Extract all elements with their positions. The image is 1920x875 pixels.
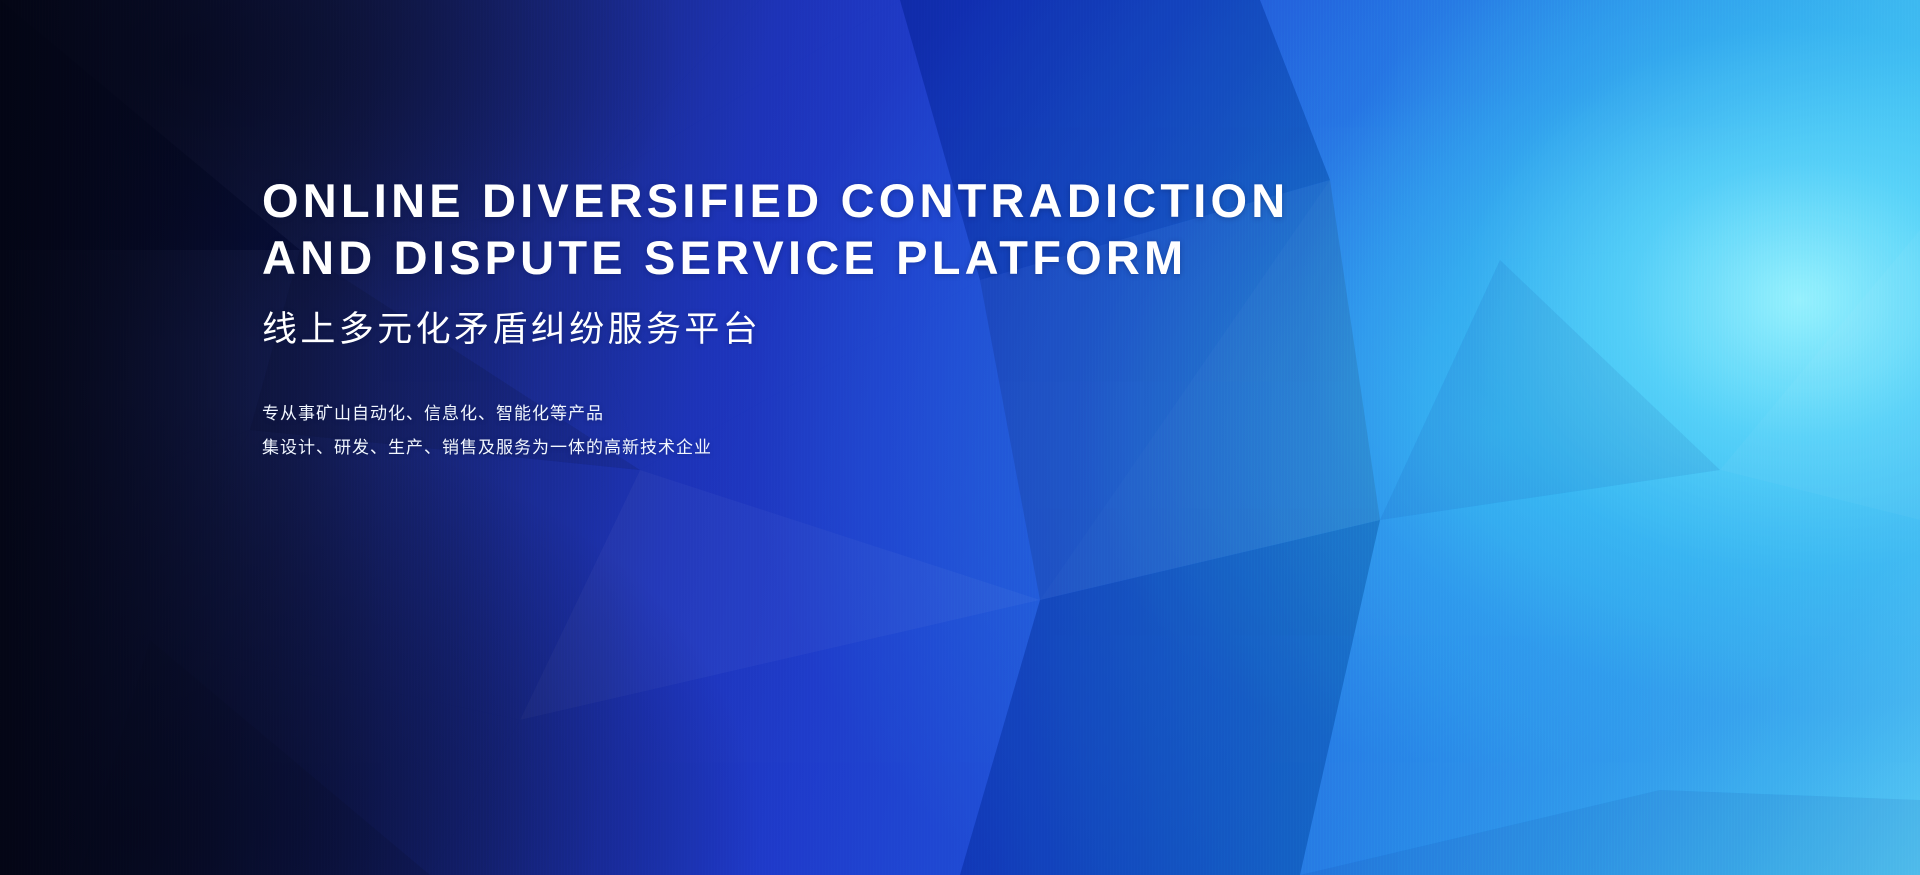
description-line-2: 集设计、研发、生产、销售及服务为一体的高新技术企业 (262, 431, 1462, 465)
hero-banner: ONLINE DIVERSIFIED CONTRADICTION AND DIS… (0, 0, 1920, 875)
hero-content: ONLINE DIVERSIFIED CONTRADICTION AND DIS… (262, 172, 1462, 465)
description-block: 专从事矿山自动化、信息化、智能化等产品 集设计、研发、生产、销售及服务为一体的高… (262, 397, 1462, 465)
title-chinese: 线上多元化矛盾纠纷服务平台 (262, 308, 1462, 352)
title-english-line-2: AND DISPUTE SERVICE PLATFORM (262, 229, 1462, 286)
description-line-1: 专从事矿山自动化、信息化、智能化等产品 (262, 397, 1462, 431)
title-english-line-1: ONLINE DIVERSIFIED CONTRADICTION (262, 172, 1462, 229)
